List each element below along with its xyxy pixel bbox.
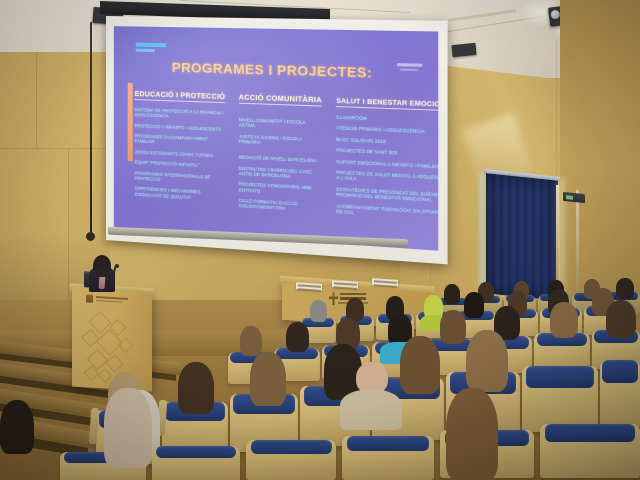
- cross-icon: [329, 292, 338, 305]
- slide-list-item: SUPORT EMOCIONAL A INFANTS I FAMÍLIES: [336, 159, 438, 170]
- slide-column-salut: SALUT I BENESTAR EMOCIONAL CLASSROOM ATE…: [329, 89, 439, 243]
- slide-brand-logo-icon: [136, 43, 170, 55]
- column-accent-bar: [128, 83, 133, 162]
- seat-foreground: [342, 436, 434, 480]
- slide-list-item: ESTRATÈGIES DE PREVENCIÓ DEL SUÏCIDI I P…: [336, 186, 438, 204]
- seat-foreground: [246, 440, 336, 480]
- slide-columns: EDUCACIÓ I PROTECCIÓ SISTEMA DE PROTECCI…: [128, 83, 427, 242]
- slide-column-accio-comunitaria: ACCIÓ COMUNITÀRIA NIVELL COMUNITAT I ESC…: [231, 86, 322, 234]
- name-placard: [332, 280, 358, 289]
- slide-list-item: JOVES ESTUDIANTS JOVES TUTORS: [135, 149, 225, 159]
- slide-list-item: JUSTÍCIA JUVENIL I ESCOLA PRIMÀRIA: [239, 133, 322, 148]
- wall-seam: [36, 52, 37, 148]
- slide-column-educacio: EDUCACIÓ I PROTECCIÓ SISTEMA DE PROTECCI…: [128, 83, 225, 228]
- wall-speaker-right: [451, 43, 476, 57]
- slide-list-item: CLASSROOM: [336, 115, 438, 125]
- screen-cord-knob: [86, 232, 95, 241]
- auditorium-photo: PROGRAMES I PROJECTES: EDUCACIÓ I PROTEC…: [0, 0, 640, 480]
- podium-logo-icon: [86, 294, 130, 305]
- slide-list-item: MEDIACIÓ DE NIVELL BARCELONA: [239, 155, 322, 165]
- podium: [72, 287, 152, 392]
- column-items: CLASSROOM ATENCIÓ PRIMÀRIA I ADOLESCÈNCI…: [336, 115, 438, 222]
- slide-list-item: ATENCIÓ PRIMÀRIA I ADOLESCÈNCIA: [336, 126, 438, 136]
- slide-title: PROGRAMES I PROJECTES:: [114, 58, 438, 82]
- slide-list-item: PROTECCIÓ A INFANTS I ADOLESCENTS: [135, 123, 225, 132]
- slide-list-item: PROJECTES DE SANT BOI: [336, 148, 438, 159]
- name-placard: [296, 282, 322, 291]
- seat-foreground: [152, 446, 240, 480]
- seat-foreground: [540, 424, 640, 478]
- column-items: SISTEMA DE PROTECCIÓ A LA INFÀNCIA I ADO…: [135, 107, 225, 202]
- slide-list-item: PROJECTES DE SALUT MENTAL A ADOLESCENTS …: [336, 170, 438, 187]
- slide-list-item: PROJECTES COMUNITARIS AMB ENTITATS: [239, 182, 322, 198]
- slide-list-item: PROGRAMES INTERNACIONALS DE PROTECCIÓ: [135, 170, 225, 186]
- screen-cord: [90, 22, 92, 234]
- column-heading: SALUT I BENESTAR EMOCIONAL: [336, 98, 438, 112]
- projector-lens-icon: [550, 10, 560, 20]
- slide-list-item: EXPERIÈNCIES I MECANISMES D'EDUCACIÓ DE …: [135, 186, 225, 202]
- slide-list-item: EQUIP "PROTECCIÓ INFANTIL": [135, 160, 225, 170]
- slide-list-item: ACOMPANYAMENT PSICOLÒGIC EN SITUACIONS D…: [336, 203, 438, 221]
- microphone-head-icon: [115, 264, 119, 268]
- column-heading: EDUCACIÓ I PROTECCIÓ: [135, 91, 225, 103]
- name-placard: [372, 278, 398, 287]
- slide-list-item: CICLE FORMATIU D'ACCIÓ SOCIOCOMUNITÀRIA: [239, 198, 322, 214]
- slide-list-item: DISTRICTES I BARRIS DEL CASC ANTIC DE BA…: [239, 165, 322, 180]
- slide-list-item: PROGRAMES D'ACOMPANYAMENT FAMILIAR: [135, 133, 225, 148]
- speaker-scarf: [99, 276, 106, 289]
- column-items: NIVELL COMUNITAT I ESCOLA ACTIVA JUSTÍCI…: [239, 117, 322, 214]
- presentation-slide: PROGRAMES I PROJECTES: EDUCACIÓ I PROTEC…: [114, 26, 438, 251]
- slide-list-item: BLOC SOLIDARI 2018: [336, 137, 438, 148]
- speaker-hair: [93, 255, 111, 277]
- column-heading: ACCIÓ COMUNITÀRIA: [239, 94, 322, 106]
- wall-seam: [0, 148, 110, 149]
- slide-list-item: SISTEMA DE PROTECCIÓ A LA INFÀNCIA I ADO…: [135, 107, 225, 121]
- slide-list-item: NIVELL COMUNITAT I ESCOLA ACTIVA: [239, 117, 322, 131]
- projection-screen: PROGRAMES I PROJECTES: EDUCACIÓ I PROTEC…: [106, 16, 448, 264]
- door-frame: [576, 190, 579, 302]
